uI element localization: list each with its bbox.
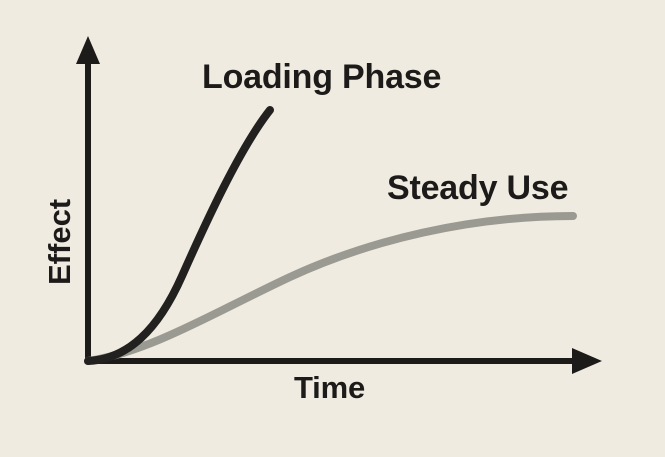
- chart-figure: Loading Phase Steady Use Time Effect: [0, 0, 665, 457]
- y-axis-arrowhead-icon: [76, 36, 100, 64]
- annotation-loading-phase: Loading Phase: [202, 60, 441, 94]
- series-line-loading-phase: [88, 110, 270, 361]
- x-axis-arrowhead-icon: [572, 348, 602, 374]
- x-axis-label: Time: [294, 372, 365, 403]
- y-axis-label: Effect: [44, 199, 75, 285]
- annotation-steady-use: Steady Use: [387, 171, 568, 205]
- y-axis: [76, 36, 100, 361]
- series-line-steady-use: [88, 216, 573, 361]
